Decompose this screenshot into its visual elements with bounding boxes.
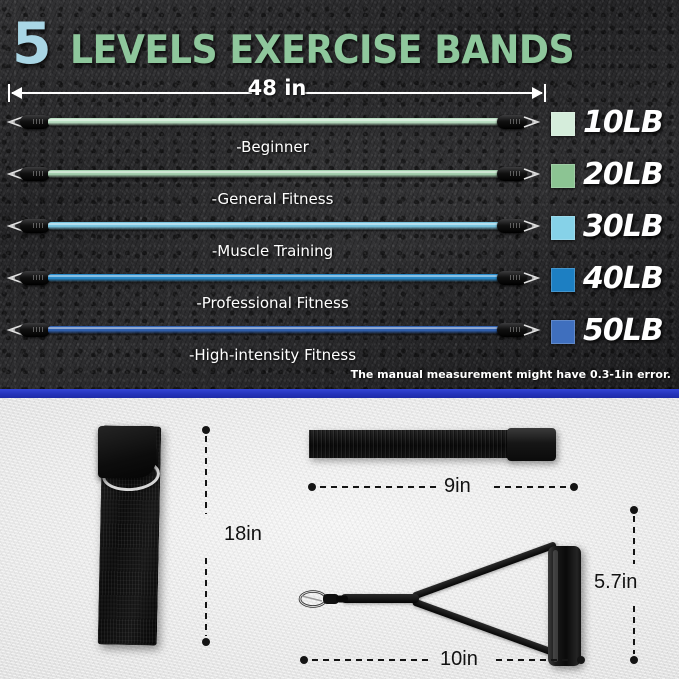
carabiner-clip-icon — [522, 324, 541, 336]
handle-strap-upper — [412, 541, 557, 600]
measurement-disclaimer: The manual measurement might have 0.3-1i… — [351, 369, 671, 380]
dimension-endcap-left — [8, 84, 10, 102]
band-weight-label: 10LB — [583, 105, 663, 141]
title-text: LEVELS EXERCISE BANDS — [70, 31, 574, 70]
dimension-label-48in: 48 in — [241, 78, 314, 99]
dimension-dash-lower — [205, 558, 207, 636]
band-assembly — [6, 268, 541, 288]
ankle-strap-buckle — [507, 428, 556, 461]
band-weight-stamp — [33, 327, 43, 332]
band-end-cap-left — [20, 167, 50, 181]
dimension-dot-top — [202, 426, 210, 434]
dimension-endcap-right — [544, 84, 546, 102]
band-length-dimension: 48 in — [8, 84, 546, 102]
band-use-caption: -Beginner — [0, 140, 545, 155]
dimension-label-9in: 9in — [444, 476, 471, 496]
band-assembly — [6, 164, 541, 184]
dimension-dot-left — [308, 483, 316, 491]
dimension-dot-top — [630, 506, 638, 514]
page-title: 5 LEVELS EXERCISE BANDS — [12, 16, 593, 73]
accessories-section: 18in 9in — [0, 398, 679, 679]
dimension-handle-height: 5.7in — [630, 506, 638, 664]
band-color-swatch — [551, 268, 575, 292]
band-weight-stamp — [510, 119, 520, 124]
handle-strap-stem — [341, 594, 419, 603]
dimension-ankle-width: 9in — [308, 483, 578, 491]
band-use-caption: -Professional Fitness — [0, 296, 545, 311]
carabiner-clip-icon — [522, 116, 541, 128]
band-weight-label: 40LB — [583, 261, 663, 297]
band-tube — [48, 118, 500, 126]
handle-strap-lower — [412, 598, 557, 657]
band-tube — [48, 326, 500, 334]
dimension-dash-upper — [633, 516, 635, 564]
dimension-line-left — [12, 92, 252, 94]
band-row: 50LB-High-intensity Fitness — [0, 312, 679, 364]
dimension-line-right — [304, 92, 542, 94]
dimension-handle-width: 10in — [300, 656, 585, 664]
band-end-cap-left — [20, 271, 50, 285]
band-assembly — [6, 320, 541, 340]
band-assembly — [6, 216, 541, 236]
dimension-dash-right — [496, 659, 572, 661]
band-weight-stamp — [510, 171, 520, 176]
carabiner-clip-icon — [522, 168, 541, 180]
dimension-dot-bottom — [630, 656, 638, 664]
anchor-fold-top — [98, 426, 156, 478]
band-weight-label: 50LB — [583, 313, 663, 349]
bands-section: 5 LEVELS EXERCISE BANDS 48 in 10LB-Begin… — [0, 0, 679, 389]
band-color-swatch — [551, 112, 575, 136]
band-weight-stamp — [510, 275, 520, 280]
dimension-dot-right — [570, 483, 578, 491]
carabiner-clip-icon — [522, 272, 541, 284]
band-color-swatch — [551, 164, 575, 188]
resistance-band-handle — [298, 538, 581, 666]
band-weight-stamp — [33, 275, 43, 280]
dimension-anchor-height: 18in — [202, 426, 210, 646]
band-end-cap-left — [20, 219, 50, 233]
band-use-caption: -High-intensity Fitness — [0, 348, 545, 363]
dimension-dash-lower — [633, 606, 635, 654]
band-weight-stamp — [33, 119, 43, 124]
band-weight-stamp — [33, 223, 43, 228]
dimension-dot-left — [300, 656, 308, 664]
carabiner-clip-icon — [522, 220, 541, 232]
band-weight-label: 20LB — [583, 157, 663, 193]
arrow-right-icon — [532, 87, 543, 99]
product-infographic: 5 LEVELS EXERCISE BANDS 48 in 10LB-Begin… — [0, 0, 679, 679]
band-use-caption: -Muscle Training — [0, 244, 545, 259]
ankle-strap-webbing — [309, 430, 512, 458]
door-anchor-strap — [98, 426, 161, 645]
dimension-dash-right — [494, 486, 568, 488]
band-weight-stamp — [33, 171, 43, 176]
band-assembly — [6, 112, 541, 132]
band-end-cap-left — [20, 323, 50, 337]
dimension-dot-right — [577, 656, 585, 664]
dimension-label-5-7in: 5.7in — [594, 572, 637, 592]
handle-foam-grip — [548, 546, 581, 666]
dimension-dash-left — [320, 486, 438, 488]
dimension-dash-upper — [205, 436, 207, 514]
band-row: 20LB-General Fitness — [0, 156, 679, 208]
band-row: 30LB-Muscle Training — [0, 208, 679, 260]
dimension-dot-bottom — [202, 638, 210, 646]
band-row: 10LB-Beginner — [0, 104, 679, 156]
ankle-strap — [309, 428, 556, 461]
band-row: 40LB-Professional Fitness — [0, 260, 679, 312]
band-tube — [48, 222, 500, 230]
title-number: 5 — [12, 16, 50, 73]
dimension-label-18in: 18in — [224, 524, 262, 544]
dimension-label-10in: 10in — [440, 649, 478, 669]
section-divider — [0, 389, 679, 398]
band-use-caption: -General Fitness — [0, 192, 545, 207]
dimension-dash-left — [312, 659, 432, 661]
carabiner-icon — [298, 588, 348, 610]
band-end-cap-left — [20, 115, 50, 129]
band-tube — [48, 274, 500, 282]
band-tube — [48, 170, 500, 178]
band-color-swatch — [551, 216, 575, 240]
band-weight-stamp — [510, 223, 520, 228]
band-weight-label: 30LB — [583, 209, 663, 245]
band-color-swatch — [551, 320, 575, 344]
band-weight-stamp — [510, 327, 520, 332]
arrow-left-icon — [11, 87, 22, 99]
